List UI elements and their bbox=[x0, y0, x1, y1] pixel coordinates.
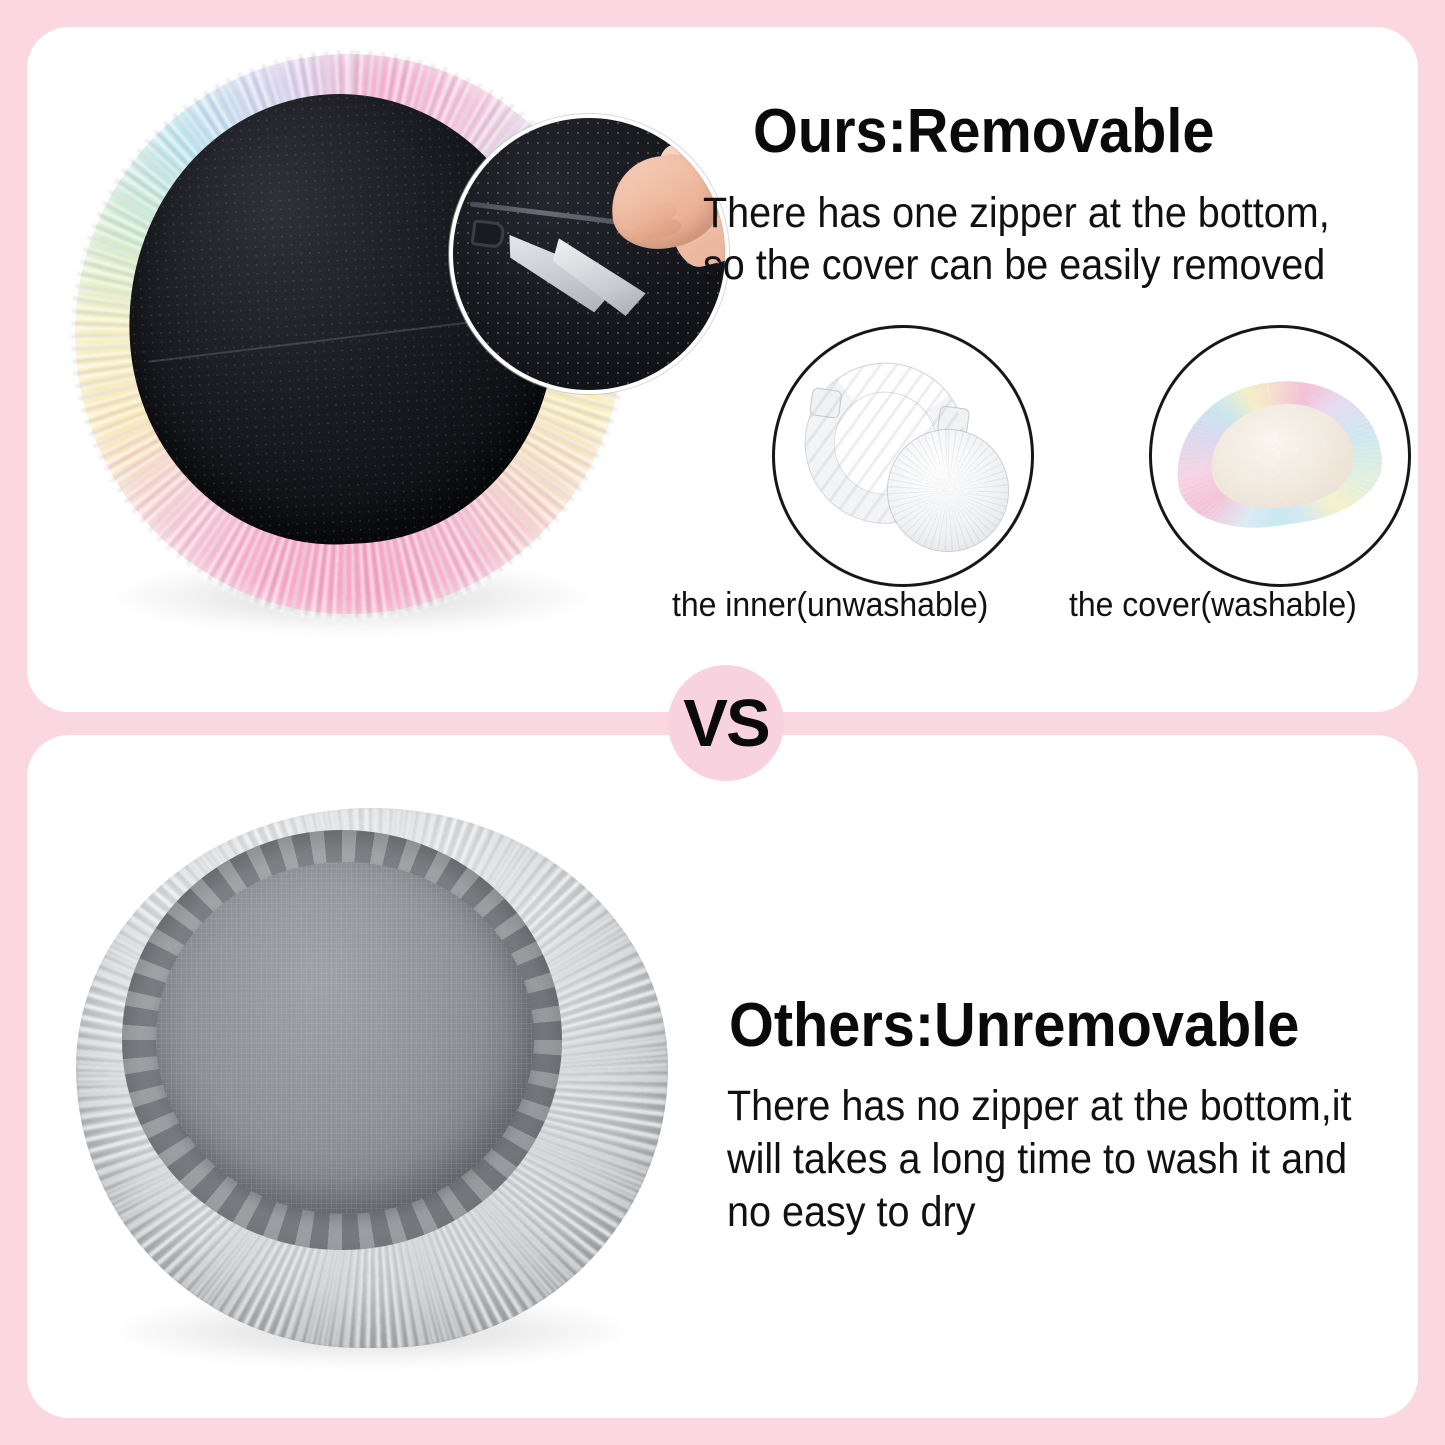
ours-description-line-2: so the cover can be easily removed bbox=[703, 239, 1325, 291]
cover-circle bbox=[1149, 325, 1411, 587]
cover-fur-strands bbox=[1166, 368, 1389, 538]
vs-label: VS bbox=[683, 690, 768, 757]
rainbow-pet-bed-image bbox=[57, 42, 637, 652]
infographic-page: Ours:Removable There has one zipper at t… bbox=[0, 0, 1445, 1445]
others-description-line-3: no easy to dry bbox=[727, 1186, 975, 1238]
others-description-line-1: There has no zipper at the bottom,it bbox=[727, 1080, 1352, 1132]
panel-ours-removable: Ours:Removable There has one zipper at t… bbox=[27, 27, 1418, 712]
panel-others-unremovable: Others:Unremovable There has no zipper a… bbox=[27, 735, 1418, 1418]
vs-badge: VS bbox=[668, 665, 784, 781]
grey-pet-bed-image bbox=[52, 790, 692, 1390]
page-title-ours: Ours:Removable bbox=[753, 99, 1214, 164]
round-pad-filling bbox=[888, 430, 1008, 550]
others-description-line-2: will takes a long time to wash it and bbox=[727, 1133, 1347, 1185]
zipper-detail-inset bbox=[449, 114, 729, 394]
ours-description-line-1: There has one zipper at the bottom, bbox=[703, 187, 1330, 239]
deflated-rainbow-cover bbox=[1166, 368, 1389, 538]
zipper-pull-icon bbox=[471, 220, 506, 250]
caption-cover: the cover(washable) bbox=[1069, 587, 1357, 624]
caption-inner: the inner(unwashable) bbox=[672, 587, 988, 624]
inner-cushion-circle bbox=[772, 325, 1034, 587]
page-title-others: Others:Unremovable bbox=[729, 993, 1299, 1058]
grey-sewn-in-cushion bbox=[156, 862, 534, 1214]
